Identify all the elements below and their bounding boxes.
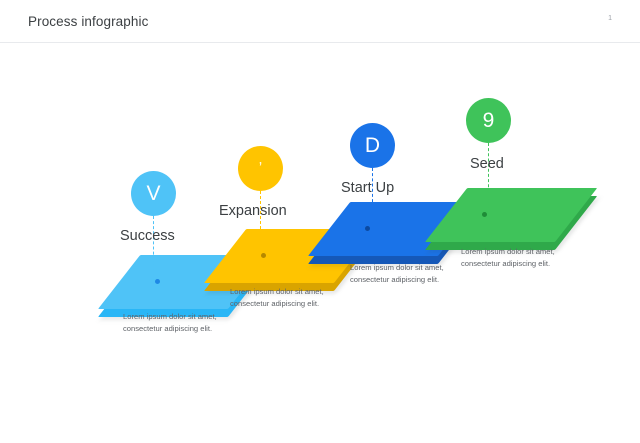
badge-startup[interactable]: D — [350, 123, 395, 168]
step-title-seed: Seed — [470, 156, 504, 172]
infographic-canvas: V Success Lorem ipsum dolor sit amet, co… — [0, 43, 640, 443]
step-description-expansion: Lorem ipsum dolor sit amet, consectetur … — [230, 286, 326, 309]
slab-seed[interactable] — [425, 188, 555, 250]
page-number: 1 — [608, 15, 612, 22]
page-title: Process infographic — [28, 14, 148, 29]
badge-success[interactable]: V — [131, 171, 176, 216]
slab-anchor-dot — [261, 253, 266, 258]
connector-seed — [488, 143, 489, 213]
slab-anchor-dot — [365, 226, 370, 231]
slab-startup[interactable] — [308, 202, 438, 264]
step-title-success: Success — [120, 228, 175, 244]
header-bar: Process infographic 1 — [0, 0, 640, 43]
badge-glyph-seed: 9 — [483, 110, 495, 131]
slab-anchor-dot — [155, 279, 160, 284]
step-description-startup: Lorem ipsum dolor sit amet, consectetur … — [350, 262, 446, 285]
step-description-seed: Lorem ipsum dolor sit amet, consectetur … — [461, 246, 557, 269]
badge-glyph-success: V — [146, 183, 160, 204]
connector-startup — [372, 168, 373, 228]
step-title-expansion: Expansion — [219, 203, 287, 219]
badge-glyph-startup: D — [365, 135, 380, 156]
connector-expansion — [260, 191, 261, 254]
badge-seed[interactable]: 9 — [466, 98, 511, 143]
badge-glyph-expansion: ʼ — [259, 161, 262, 176]
step-description-success: Lorem ipsum dolor sit amet, consectetur … — [123, 311, 219, 334]
step-title-startup: Start Up — [341, 180, 394, 196]
connector-success — [153, 216, 154, 280]
slab-anchor-dot — [482, 212, 487, 217]
badge-expansion[interactable]: ʼ — [238, 146, 283, 191]
